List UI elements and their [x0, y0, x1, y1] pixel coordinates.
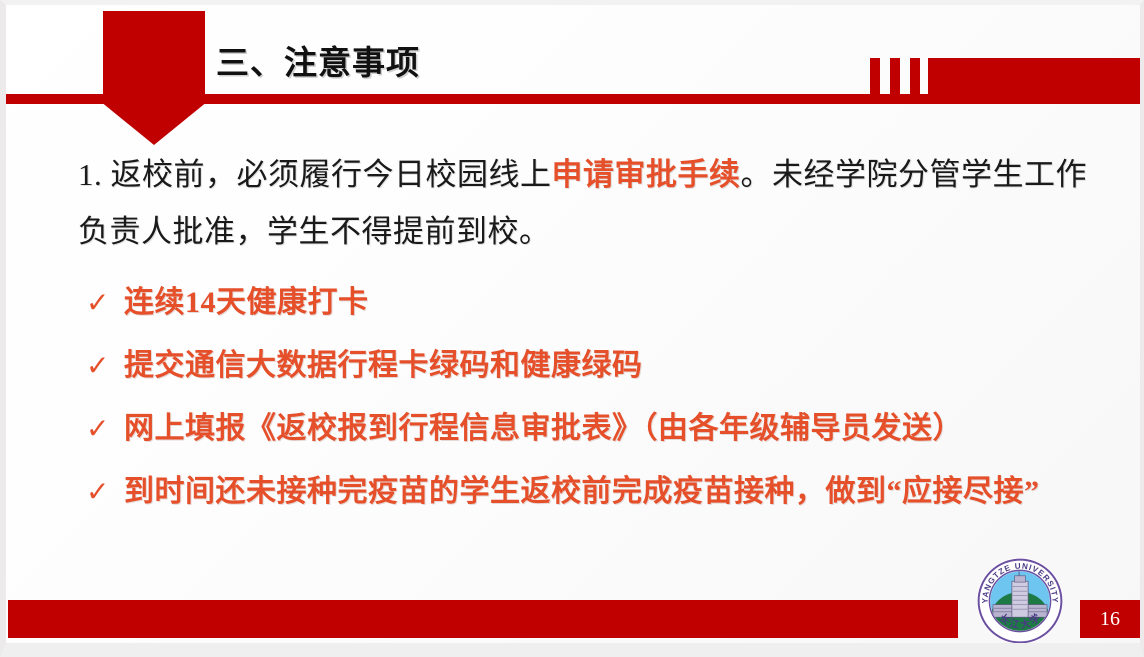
header-decoration-block: [928, 58, 1144, 96]
list-item-label: 到时间还未接种完疫苗的学生返校前完成疫苗接种，做到“应接尽接”: [124, 463, 1040, 520]
footer-red-bar: [8, 600, 958, 638]
list-item: ✓ 网上填报《返校报到行程信息审批表》（由各年级辅导员发送）: [78, 400, 1118, 457]
page-title: 三、注意事项: [216, 36, 420, 84]
list-item-label: 提交通信大数据行程卡绿码和健康绿码: [124, 337, 643, 394]
list-item: ✓ 提交通信大数据行程卡绿码和健康绿码: [78, 337, 1118, 394]
slide-canvas: 三、注意事项 1. 返校前，必须履行今日校园线上申请审批手续。未经学院分管学生工…: [0, 0, 1144, 657]
intro-paragraph: 1. 返校前，必须履行今日校园线上申请审批手续。未经学院分管学生工作负责人批准，…: [78, 146, 1118, 260]
list-item: ✓ 到时间还未接种完疫苗的学生返校前完成疫苗接种，做到“应接尽接”: [78, 463, 1118, 520]
list-item-label: 网上填报《返校报到行程信息审批表》（由各年级辅导员发送）: [124, 400, 963, 457]
checkmark-icon: ✓: [78, 274, 124, 331]
checkmark-icon: ✓: [78, 337, 124, 394]
bullet-list: ✓ 连续14天健康打卡 ✓ 提交通信大数据行程卡绿码和健康绿码 ✓ 网上填报《返…: [78, 274, 1118, 520]
slide-body: 1. 返校前，必须履行今日校园线上申请审批手续。未经学院分管学生工作负责人批准，…: [78, 146, 1118, 526]
paragraph-highlight: 申请审批手续: [552, 157, 741, 192]
page-number-badge: 16: [1080, 600, 1140, 638]
checkmark-icon: ✓: [78, 463, 124, 520]
deco-bar-2: [890, 58, 900, 96]
yangtze-university-seal-icon: YANGTZE UNIVERSITY 长 江 大 学: [975, 556, 1065, 646]
down-arrow-marker-icon: [103, 11, 205, 145]
checkmark-icon: ✓: [78, 400, 124, 457]
list-item: ✓ 连续14天健康打卡: [78, 274, 1118, 331]
three-vertical-bars-icon: [870, 58, 920, 96]
deco-bar-1: [870, 58, 880, 96]
paragraph-prefix: 1. 返校前，必须履行今日校园线上: [78, 157, 552, 192]
deco-bar-3: [910, 58, 920, 96]
list-item-label: 连续14天健康打卡: [124, 274, 369, 331]
